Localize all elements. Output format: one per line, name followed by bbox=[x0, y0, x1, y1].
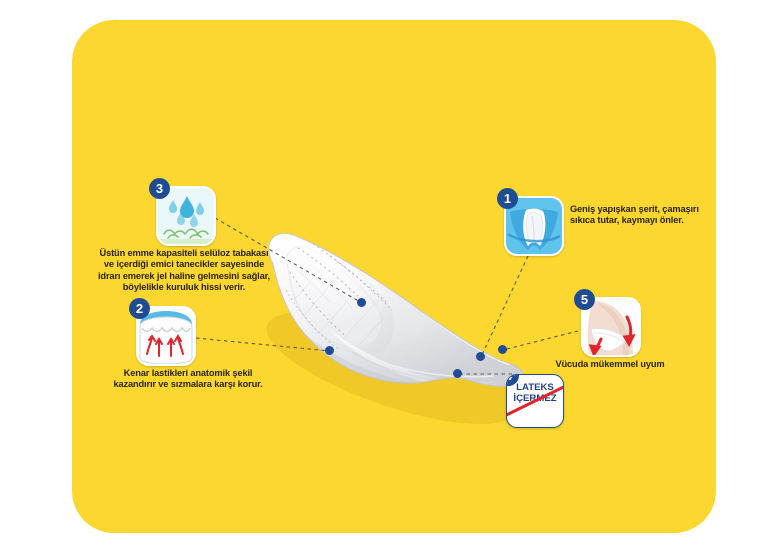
infographic-root: 3 bbox=[0, 0, 777, 550]
feature-2-icon-box[interactable]: 2 bbox=[136, 306, 196, 366]
feature-3-number: 3 bbox=[149, 178, 170, 199]
feature-2-number: 2 bbox=[129, 298, 150, 319]
feature-5-text: Vücuda mükemmel uyum bbox=[545, 359, 675, 370]
feature-5-icon-box[interactable]: 5 bbox=[581, 297, 641, 357]
feature-1-number: 1 bbox=[497, 188, 518, 209]
feature-5-number: 5 bbox=[574, 289, 595, 310]
dot-feature-1 bbox=[476, 352, 485, 361]
feature-callout-5: 5 bbox=[581, 297, 641, 357]
feature-3-icon-box[interactable]: 3 bbox=[156, 186, 216, 246]
feature-callout-2: 2 bbox=[136, 306, 196, 366]
feature-callout-1: 1 Geniş yapışkan şerit, çamaşırı sıkıca … bbox=[504, 196, 564, 256]
dot-feature-4 bbox=[453, 369, 462, 378]
feature-3-text: Üstün emme kapasiteli selüloz tabakası v… bbox=[96, 248, 272, 294]
feature-callout-3: 3 bbox=[156, 186, 216, 246]
dot-feature-2 bbox=[325, 346, 334, 355]
dot-feature-3 bbox=[357, 298, 366, 307]
no-latex-icon[interactable]: 4 LATEKS İÇERMEZ bbox=[506, 374, 564, 428]
feature-1-icon-box[interactable]: 1 bbox=[504, 196, 564, 256]
feature-1-text: Geniş yapışkan şerit, çamaşırı sıkıca tu… bbox=[570, 204, 720, 227]
dot-feature-5 bbox=[498, 345, 507, 354]
feature-2-text: Kenar lastikleri anatomik şekil kazandır… bbox=[112, 368, 264, 391]
feature-callout-4: 4 LATEKS İÇERMEZ bbox=[506, 374, 564, 428]
